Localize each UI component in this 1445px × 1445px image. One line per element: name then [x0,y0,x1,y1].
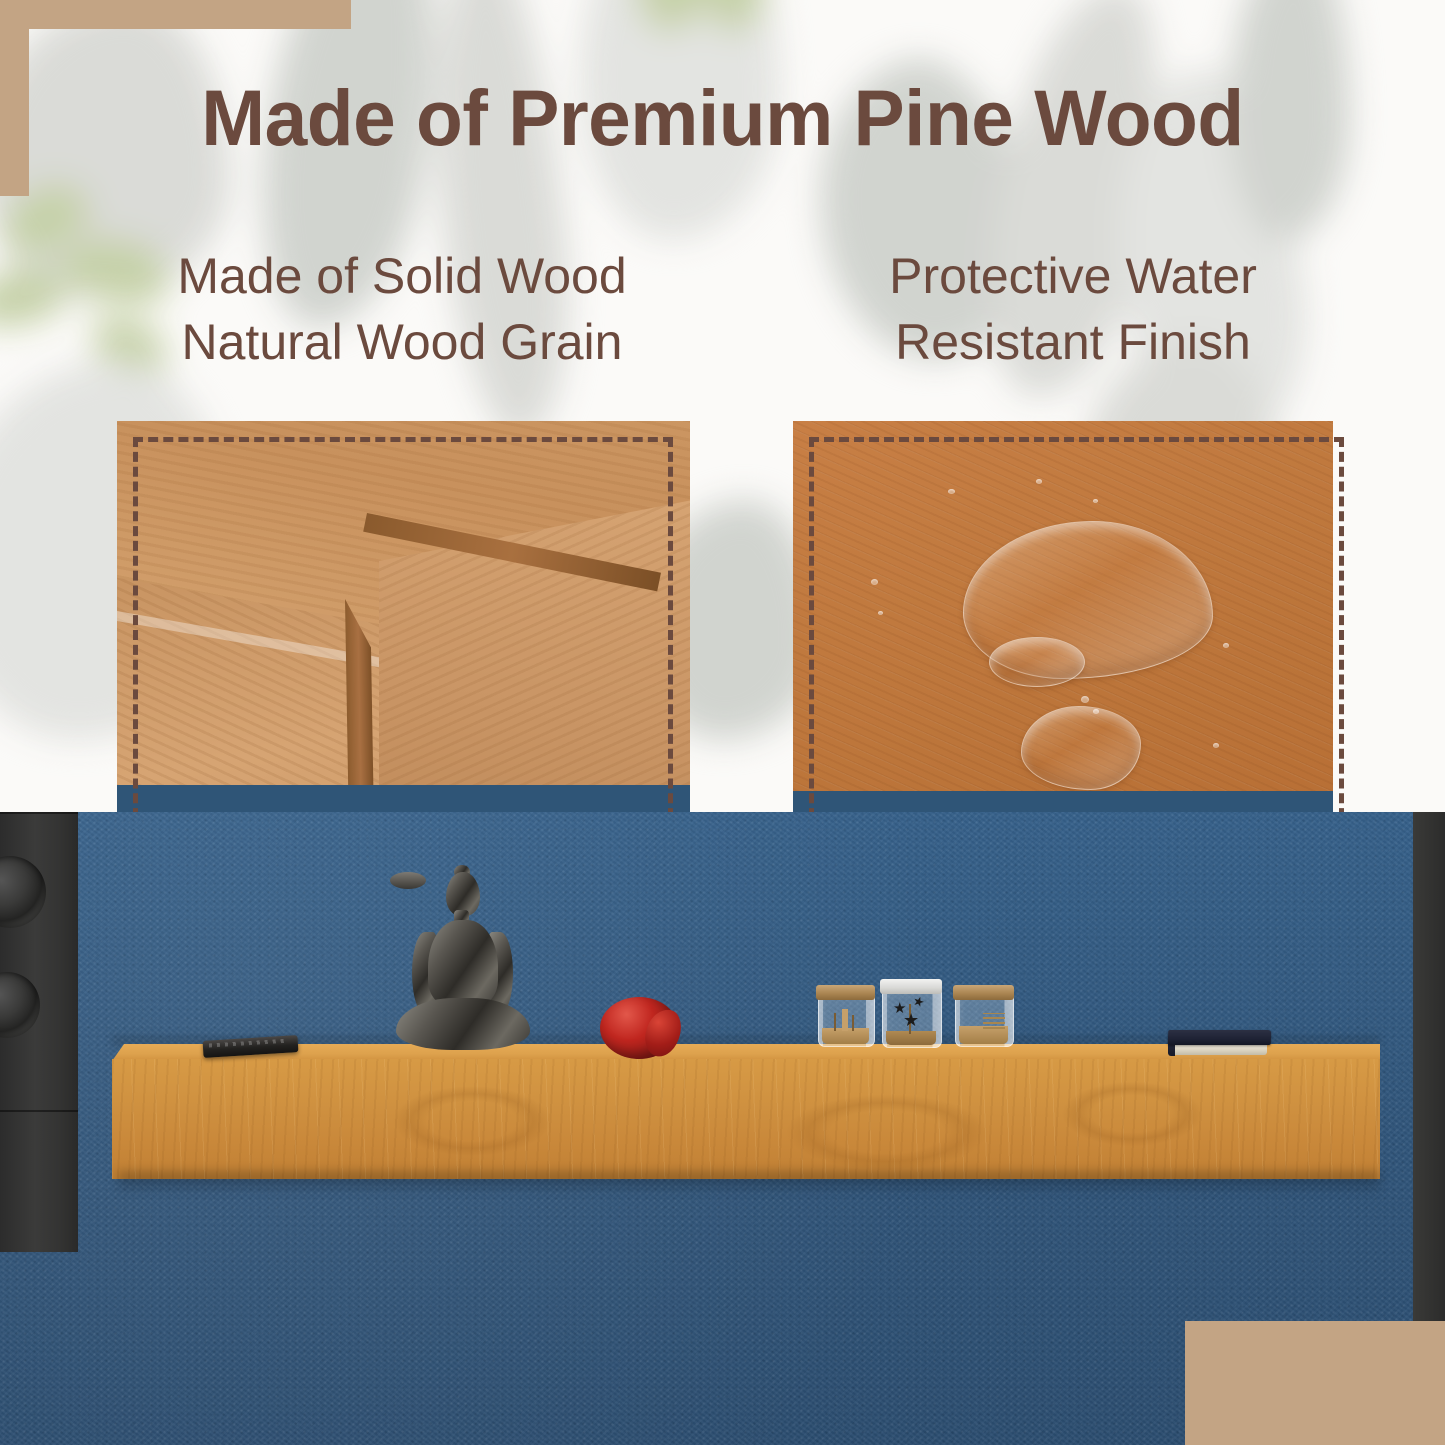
corner-frame-horizontal [0,0,351,29]
feature-label-water-resistant: Protective Water Resistant Finish [793,243,1353,375]
tower-speaker [0,812,78,1252]
corner-block-bottom-right [1185,1321,1445,1445]
shelf-drop-shadow [118,1172,1380,1194]
floating-shelf [112,1044,1380,1179]
infographic-canvas: Made of Premium Pine Wood Made of Solid … [0,0,1445,1445]
glass-jar-2-with-stars: ★ ★ ★ [882,979,940,1048]
shelf-front-face [112,1059,1380,1179]
red-glass-ornament [600,997,688,1059]
buddha-statue [390,872,535,1050]
glass-jar-1 [818,985,873,1047]
navy-hardcover-book [1168,1030,1271,1057]
glass-jar-3 [955,985,1012,1047]
photo-right-gap [1333,421,1445,813]
dashed-frame-left-photo [133,437,673,815]
star-icon: ★ [903,1011,919,1029]
page-title: Made of Premium Pine Wood [22,78,1424,157]
header-section: Made of Premium Pine Wood Made of Solid … [0,0,1445,815]
feature-label-solid-wood: Made of Solid Wood Natural Wood Grain [117,243,687,375]
dashed-frame-right-photo [809,437,1344,815]
